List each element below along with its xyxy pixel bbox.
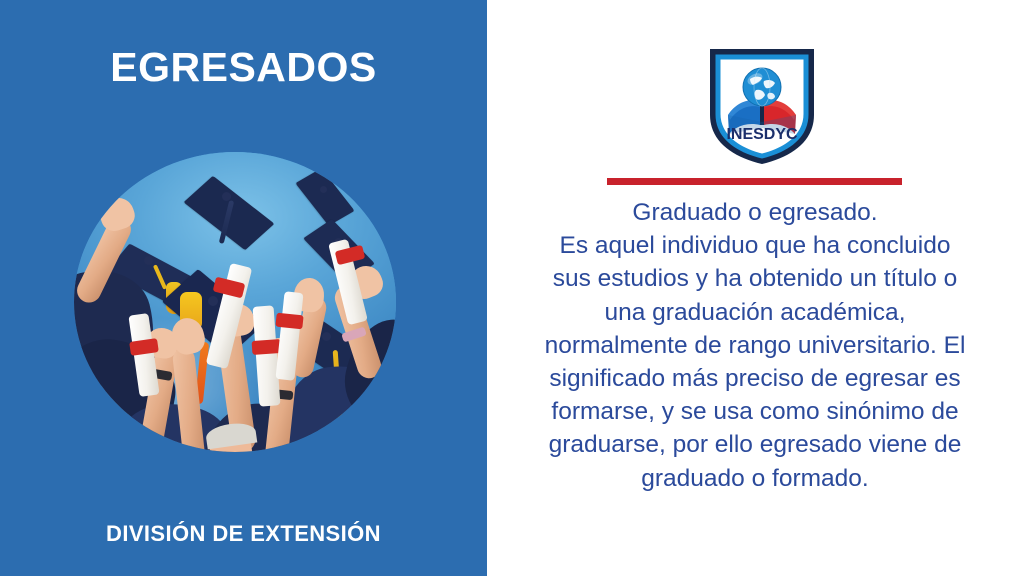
diploma-ribbon	[275, 313, 303, 330]
definition-line: Graduado o egresado.	[527, 196, 983, 229]
diploma-ribbon	[252, 339, 282, 355]
definition-line: graduado o formado.	[527, 462, 983, 495]
definition-line: formarse, y se usa como sinónimo de	[527, 395, 983, 428]
definition-line: sus estudios y ha obtenido un título o	[527, 262, 983, 295]
graduation-photo	[74, 152, 396, 452]
page-title: EGRESADOS	[0, 44, 487, 91]
red-divider	[607, 178, 902, 185]
slide-root: EGRESADOS	[0, 0, 1024, 576]
photo-sky-background	[74, 152, 396, 452]
definition-line: graduarse, por ello egresado viene de	[527, 428, 983, 461]
footer-division-label: DIVISIÓN DE EXTENSIÓN	[0, 521, 487, 547]
definition-line: Es aquel individuo que ha concluido	[527, 229, 983, 262]
definition-line: normalmente de rango universitario. El	[527, 329, 983, 362]
inesdyc-logo: INESDYC	[706, 45, 818, 167]
shield-icon: INESDYC	[706, 45, 818, 167]
definition-line: una graduación académica,	[527, 296, 983, 329]
logo-wordmark: INESDYC	[726, 126, 798, 143]
definition-line: significado más preciso de egresar es	[527, 362, 983, 395]
definition-text: Graduado o egresado. Es aquel individuo …	[527, 196, 983, 495]
hand	[96, 194, 138, 235]
